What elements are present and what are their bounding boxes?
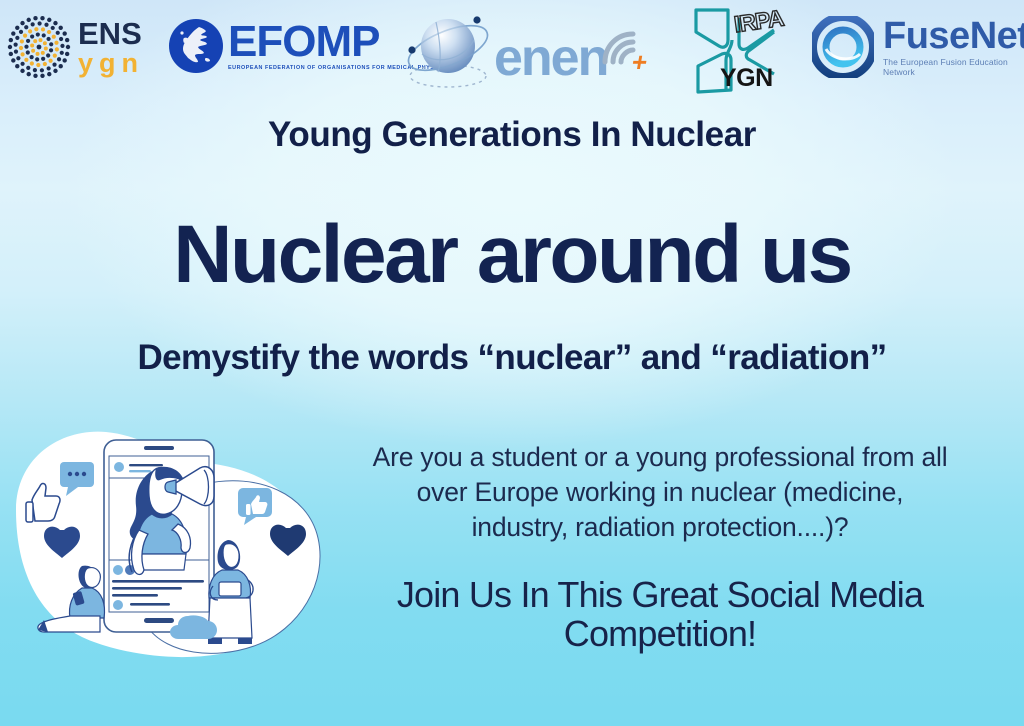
- logo-ens-main-text: ENS: [78, 18, 144, 49]
- subtitle: Demystify the words “nuclear” and “radia…: [0, 338, 1024, 378]
- partner-logo-bar: ENS ygn EFOMP EUROPEAN FEDERA: [0, 0, 1024, 100]
- body-line: industry, radiation protection....)?: [330, 510, 990, 545]
- logo-ens-ygn[interactable]: ENS ygn: [6, 14, 144, 80]
- concentric-dot-circle-icon: [6, 14, 72, 80]
- logo-fusenet[interactable]: FuseNet The European Fusion Education Ne…: [812, 16, 1024, 78]
- social-media-promotion-illustration: [8, 420, 328, 670]
- logo-ens-sub-text: ygn: [78, 50, 144, 77]
- cta-line: Competition!: [330, 615, 990, 654]
- logo-enen-main-text: enen: [494, 32, 607, 84]
- fusenet-wordmark: FuseNet The European Fusion Education Ne…: [883, 17, 1024, 77]
- call-to-action: Join Us In This Great Social Media Compe…: [330, 576, 990, 654]
- enen-wordmark: enen +: [494, 16, 643, 84]
- radiation-trefoil-icon: IRPA YGN: [686, 4, 786, 98]
- body-paragraph: Are you a student or a young professiona…: [330, 440, 990, 546]
- page-title: Nuclear around us: [0, 214, 1024, 296]
- atom-orbit-icon: [398, 4, 498, 96]
- logo-fusenet-main-text: FuseNet: [883, 17, 1024, 55]
- ens-wordmark: ENS ygn: [78, 18, 144, 77]
- logo-fusenet-sub-text: The European Fusion Education Network: [883, 57, 1024, 77]
- fusion-ring-icon: [812, 16, 874, 78]
- body-text-column: Are you a student or a young professiona…: [330, 440, 990, 653]
- logo-irpa-sub-text: YGN: [720, 64, 773, 93]
- poster-canvas: ENS ygn EFOMP EUROPEAN FEDERA: [0, 0, 1024, 726]
- globe-europe-icon: [168, 18, 224, 74]
- body-line: over Europe working in nuclear (medicine…: [330, 475, 990, 510]
- eyebrow-title: Young Generations In Nuclear: [0, 115, 1024, 155]
- cta-line: Join Us In This Great Social Media: [330, 576, 990, 615]
- body-line: Are you a student or a young professiona…: [330, 440, 990, 475]
- logo-enen-plus[interactable]: enen +: [398, 4, 643, 96]
- logo-irpa-ygn[interactable]: IRPA YGN: [686, 4, 786, 98]
